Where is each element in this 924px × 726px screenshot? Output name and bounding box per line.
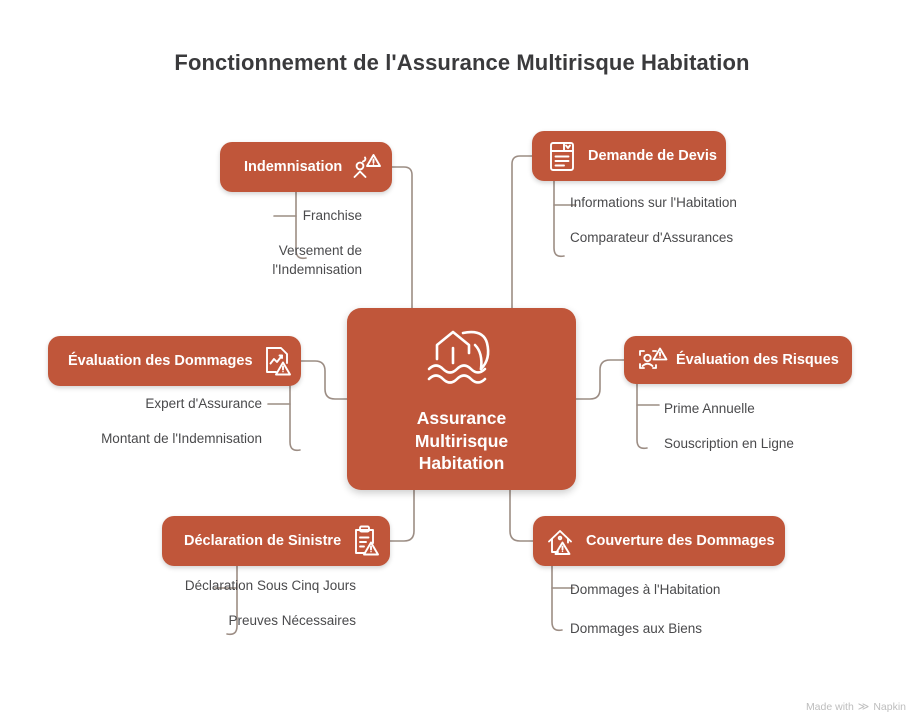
- center-node-title: Assurance Multirisque Habitation: [415, 407, 508, 474]
- sub-spine-evaluation-risques: [637, 384, 647, 448]
- sub-item-eval-dommages-0: Expert d'Assurance: [86, 394, 262, 413]
- sub-item-couverture-0: Dommages à l'Habitation: [570, 580, 800, 599]
- diagram-canvas: Fonctionnement de l'Assurance Multirisqu…: [0, 0, 924, 726]
- sub-items-declaration-de-sinistre: Déclaration Sous Cinq Jours Preuves Néce…: [160, 576, 356, 630]
- watermark-brand: Napkin: [873, 701, 906, 713]
- node-evaluation-des-risques-label: Évaluation des Risques: [676, 352, 839, 368]
- sub-item-declaration-0: Déclaration Sous Cinq Jours: [160, 576, 356, 595]
- node-demande-de-devis[interactable]: Demande de Devis: [532, 131, 726, 181]
- scan-person-warning-icon: [636, 345, 668, 375]
- sub-item-indemnisation-1: Versement de l'Indemnisation: [190, 241, 362, 279]
- node-evaluation-des-dommages-label: Évaluation des Dommages: [68, 353, 253, 369]
- form-document-icon: [546, 139, 578, 173]
- node-couverture-des-dommages-label: Couverture des Dommages: [586, 533, 775, 549]
- node-evaluation-des-dommages[interactable]: Évaluation des Dommages: [48, 336, 301, 386]
- sub-item-eval-risques-1: Souscription en Ligne: [664, 434, 864, 453]
- link-evaluation-risques: [576, 360, 624, 399]
- house-flood-icon: [419, 323, 505, 395]
- sub-item-couverture-1: Dommages aux Biens: [570, 619, 800, 638]
- sub-items-couverture-des-dommages: Dommages à l'Habitation Dommages aux Bie…: [570, 580, 800, 638]
- house-warning-icon: [545, 525, 577, 557]
- sub-items-evaluation-des-risques: Prime Annuelle Souscription en Ligne: [664, 399, 864, 453]
- sub-items-indemnisation: Franchise Versement de l'Indemnisation: [190, 206, 362, 279]
- sub-item-eval-risques-0: Prime Annuelle: [664, 399, 864, 418]
- sub-item-devis-0: Informations sur l'Habitation: [570, 193, 750, 212]
- sub-spine-evaluation-dommages: [290, 386, 300, 450]
- node-indemnisation-label: Indemnisation: [244, 159, 342, 175]
- sub-items-evaluation-des-dommages: Expert d'Assurance Montant de l'Indemnis…: [86, 394, 262, 448]
- sub-spine-devis: [554, 181, 564, 256]
- chart-document-warning-icon: [261, 344, 293, 378]
- node-indemnisation[interactable]: Indemnisation: [220, 142, 392, 192]
- sub-item-declaration-1: Preuves Nécessaires: [160, 611, 356, 630]
- center-node-assurance-multirisque-habitation[interactable]: Assurance Multirisque Habitation: [347, 308, 576, 490]
- person-warning-icon: [350, 152, 382, 182]
- node-couverture-des-dommages[interactable]: Couverture des Dommages: [533, 516, 785, 566]
- napkin-logo-icon: ≫: [858, 700, 870, 713]
- watermark-prefix: Made with: [806, 701, 854, 713]
- node-evaluation-des-risques[interactable]: Évaluation des Risques: [624, 336, 852, 384]
- sub-item-indemnisation-0: Franchise: [190, 206, 362, 225]
- center-line-2: Multirisque: [415, 431, 508, 451]
- node-declaration-de-sinistre-label: Déclaration de Sinistre: [184, 533, 341, 549]
- center-line-1: Assurance: [417, 408, 507, 428]
- center-line-3: Habitation: [419, 453, 505, 473]
- page-title: Fonctionnement de l'Assurance Multirisqu…: [0, 50, 924, 76]
- sub-item-eval-dommages-1: Montant de l'Indemnisation: [86, 429, 262, 448]
- node-demande-de-devis-label: Demande de Devis: [588, 148, 717, 164]
- link-evaluation-dommages: [301, 361, 347, 399]
- sub-item-devis-1: Comparateur d'Assurances: [570, 228, 750, 247]
- node-declaration-de-sinistre[interactable]: Déclaration de Sinistre: [162, 516, 390, 566]
- sub-items-demande-de-devis: Informations sur l'Habitation Comparateu…: [570, 193, 750, 247]
- napkin-watermark: Made with ≫ Napkin: [806, 700, 906, 713]
- clipboard-warning-icon: [349, 524, 381, 558]
- sub-spine-couverture: [552, 566, 562, 630]
